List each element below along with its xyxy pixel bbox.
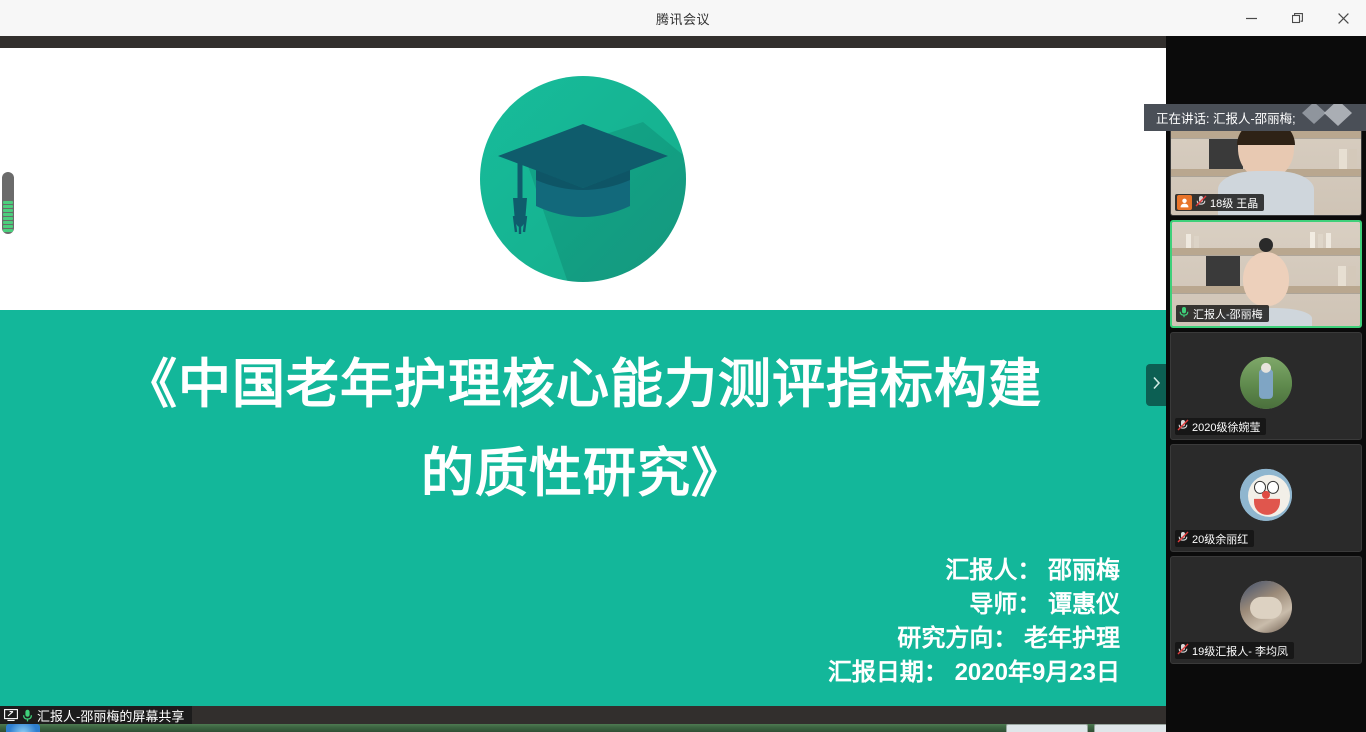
shared-screen-area[interactable]: 《中国老年护理核心能力测评指标构建 的质性研究》 汇报人： 邵丽梅 导师： 谭惠… xyxy=(0,48,1166,706)
meta-row-advisor: 导师： 谭惠仪 xyxy=(828,588,1120,622)
participant-name-badge: 18级 王晶 xyxy=(1175,194,1264,211)
participant-name: 汇报人-邵丽梅 xyxy=(1193,306,1263,322)
avatar xyxy=(1240,357,1292,409)
active-speaker-text: 正在讲话: 汇报人-邵丽梅; xyxy=(1156,108,1296,127)
meta-value-date: 2020年9月23日 xyxy=(955,659,1120,686)
participant-tile[interactable]: 20级余丽红 xyxy=(1170,444,1362,552)
meta-label-date: 汇报日期： xyxy=(828,659,948,686)
taskbar-item[interactable] xyxy=(1006,724,1088,732)
chevron-right-icon xyxy=(1152,376,1161,395)
presentation-slide: 《中国老年护理核心能力测评指标构建 的质性研究》 汇报人： 邵丽梅 导师： 谭惠… xyxy=(0,48,1166,706)
participant-name-badge: 20级余丽红 xyxy=(1175,530,1254,547)
participant-name-badge: 汇报人-邵丽梅 xyxy=(1176,305,1269,322)
slide-body-band: 《中国老年护理核心能力测评指标构建 的质性研究》 汇报人： 邵丽梅 导师： 谭惠… xyxy=(0,310,1166,706)
participant-name: 20级余丽红 xyxy=(1192,531,1248,547)
sidebar-collapse-button[interactable] xyxy=(1146,364,1166,406)
meta-row-presenter: 汇报人： 邵丽梅 xyxy=(828,554,1120,588)
active-speaker-tooltip: 正在讲话: 汇报人-邵丽梅; xyxy=(1144,104,1366,131)
participant-tile[interactable]: 19级汇报人- 李均凤 xyxy=(1170,556,1362,664)
window-titlebar: 腾讯会议 xyxy=(0,0,1366,36)
minimize-button[interactable] xyxy=(1228,0,1274,36)
mic-level-meter xyxy=(2,172,14,234)
meta-row-field: 研究方向： 老年护理 xyxy=(828,622,1120,656)
screen-share-label: 汇报人-邵丽梅的屏幕共享 xyxy=(37,706,184,725)
meta-label-field: 研究方向： xyxy=(897,625,1017,652)
meta-value-advisor: 谭惠仪 xyxy=(1048,591,1120,618)
close-button[interactable] xyxy=(1320,0,1366,36)
microphone-muted-icon xyxy=(1195,195,1207,210)
microphone-muted-icon xyxy=(1177,531,1189,546)
meta-value-presenter: 邵丽梅 xyxy=(1048,557,1120,584)
participants-sidebar[interactable]: 18级 王晶 xyxy=(1166,36,1366,732)
microphone-on-icon xyxy=(1178,306,1190,321)
microphone-muted-icon xyxy=(1177,643,1189,658)
meta-value-field: 老年护理 xyxy=(1024,625,1120,652)
meta-label-presenter: 汇报人： xyxy=(945,557,1041,584)
participant-name: 19级汇报人- 李均凤 xyxy=(1192,643,1288,659)
share-top-strip xyxy=(0,36,1166,48)
participant-name: 18级 王晶 xyxy=(1210,195,1258,211)
slide-header-band xyxy=(0,48,1166,310)
participant-tile[interactable]: 2020级徐婉莹 xyxy=(1170,332,1362,440)
windows-taskbar[interactable] xyxy=(0,724,1366,732)
slide-meta-block: 汇报人： 邵丽梅 导师： 谭惠仪 研究方向： 老年护理 汇报日期： 2020年9… xyxy=(828,554,1120,690)
window-title: 腾讯会议 xyxy=(656,9,710,28)
screen-share-status: 汇报人-邵丽梅的屏幕共享 xyxy=(0,706,192,724)
microphone-muted-icon xyxy=(1177,419,1189,434)
screen-share-icon xyxy=(4,709,18,721)
graduation-cap-icon xyxy=(480,76,686,282)
meta-row-date: 汇报日期： 2020年9月23日 xyxy=(828,656,1120,690)
windows-start-button[interactable] xyxy=(6,724,40,732)
meta-label-advisor: 导师： xyxy=(969,591,1041,618)
host-badge-icon xyxy=(1177,195,1192,210)
window-controls xyxy=(1228,0,1366,36)
restore-button[interactable] xyxy=(1274,0,1320,36)
slide-title-line-2: 的质性研究》 xyxy=(90,429,1076,518)
avatar xyxy=(1240,469,1292,521)
participant-name-badge: 2020级徐婉莹 xyxy=(1175,418,1266,435)
taskbar-item[interactable] xyxy=(1094,724,1176,732)
participant-name-badge: 19级汇报人- 李均凤 xyxy=(1175,642,1294,659)
participant-name: 2020级徐婉莹 xyxy=(1192,419,1260,435)
microphone-on-icon xyxy=(22,709,33,722)
avatar xyxy=(1240,581,1292,633)
chevron-decoration-icon xyxy=(1300,104,1366,131)
slide-title: 《中国老年护理核心能力测评指标构建 的质性研究》 xyxy=(0,340,1166,518)
slide-title-line-1: 《中国老年护理核心能力测评指标构建 xyxy=(90,340,1076,429)
participant-tile[interactable]: 汇报人-邵丽梅 xyxy=(1170,220,1362,328)
